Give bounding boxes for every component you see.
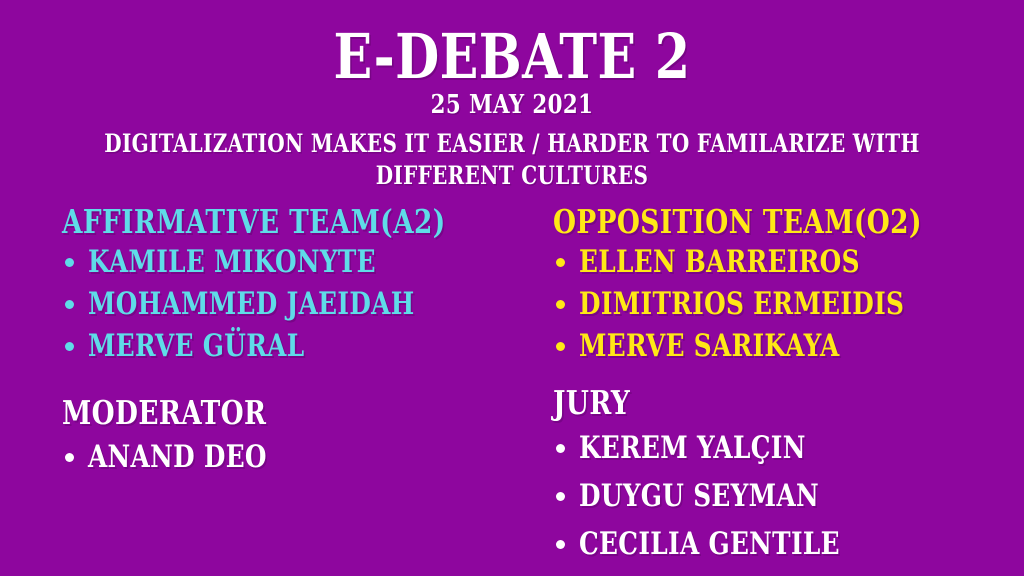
bullet-icon bbox=[65, 342, 74, 351]
opposition-team-block: OPPOSITION TEAM(O2) ELLEN BARREIROS DIMI… bbox=[553, 203, 1014, 367]
member-name: KAMILE MIKONYTE bbox=[88, 241, 376, 283]
list-item: DUYGU SEYMAN bbox=[553, 472, 905, 520]
jury-heading: JURY bbox=[553, 382, 835, 424]
slide-title: E-DEBATE 2 bbox=[92, 26, 932, 88]
jury-list: KEREM YALÇIN DUYGU SEYMAN CECILIA GENTIL… bbox=[553, 424, 905, 568]
moderator-heading: MODERATOR bbox=[62, 390, 266, 436]
bullet-icon bbox=[556, 540, 565, 549]
affirmative-team-list: KAMILE MIKONYTE MOHAMMED JAEIDAH MERVE G… bbox=[62, 241, 542, 367]
bullet-icon bbox=[65, 300, 74, 309]
moderator-list: ANAND DEO bbox=[62, 436, 318, 478]
bullet-icon bbox=[556, 444, 565, 453]
member-name: DIMITRIOS ERMEIDIS bbox=[579, 283, 904, 325]
debate-announcement-slide: E-DEBATE 2 25 MAY 2021 DIGITALIZATION MA… bbox=[0, 0, 1024, 576]
bullet-icon bbox=[556, 258, 565, 267]
debate-motion: DIGITALIZATION MAKES IT EASIER / HARDER … bbox=[0, 128, 1024, 192]
bullet-icon bbox=[65, 258, 74, 267]
moderator-block: MODERATOR ANAND DEO bbox=[62, 390, 318, 478]
bullet-icon bbox=[556, 492, 565, 501]
member-name: KEREM YALÇIN bbox=[579, 424, 806, 472]
member-name: ANAND DEO bbox=[88, 436, 267, 478]
affirmative-team-heading: AFFIRMATIVE TEAM(A2) bbox=[62, 203, 446, 241]
list-item: MERVE SARIKAYA bbox=[553, 325, 1014, 367]
list-item: KEREM YALÇIN bbox=[553, 424, 905, 472]
event-date: 25 MAY 2021 bbox=[92, 92, 932, 118]
bullet-icon bbox=[556, 342, 565, 351]
list-item: MERVE GÜRAL bbox=[62, 325, 542, 367]
jury-block: JURY KEREM YALÇIN DUYGU SEYMAN CECILIA G… bbox=[553, 382, 905, 568]
member-name: MERVE SARIKAYA bbox=[579, 325, 840, 367]
list-item: KAMILE MIKONYTE bbox=[62, 241, 542, 283]
member-name: MERVE GÜRAL bbox=[88, 325, 304, 367]
member-name: ELLEN BARREIROS bbox=[579, 241, 860, 283]
opposition-team-heading: OPPOSITION TEAM(O2) bbox=[553, 203, 922, 241]
debate-motion-line-1: DIGITALIZATION MAKES IT EASIER / HARDER … bbox=[102, 128, 921, 160]
affirmative-team-block: AFFIRMATIVE TEAM(A2) KAMILE MIKONYTE MOH… bbox=[62, 203, 542, 367]
list-item: MOHAMMED JAEIDAH bbox=[62, 283, 542, 325]
member-name: DUYGU SEYMAN bbox=[579, 472, 819, 520]
bullet-icon bbox=[556, 300, 565, 309]
list-item: DIMITRIOS ERMEIDIS bbox=[553, 283, 1014, 325]
member-name: CECILIA GENTILE bbox=[579, 520, 840, 568]
list-item: CECILIA GENTILE bbox=[553, 520, 905, 568]
list-item: ELLEN BARREIROS bbox=[553, 241, 1014, 283]
bullet-icon bbox=[65, 453, 74, 462]
list-item: ANAND DEO bbox=[62, 436, 318, 478]
opposition-team-list: ELLEN BARREIROS DIMITRIOS ERMEIDIS MERVE… bbox=[553, 241, 1014, 367]
debate-motion-line-2: DIFFERENT CULTURES bbox=[102, 160, 921, 192]
member-name: MOHAMMED JAEIDAH bbox=[88, 283, 414, 325]
